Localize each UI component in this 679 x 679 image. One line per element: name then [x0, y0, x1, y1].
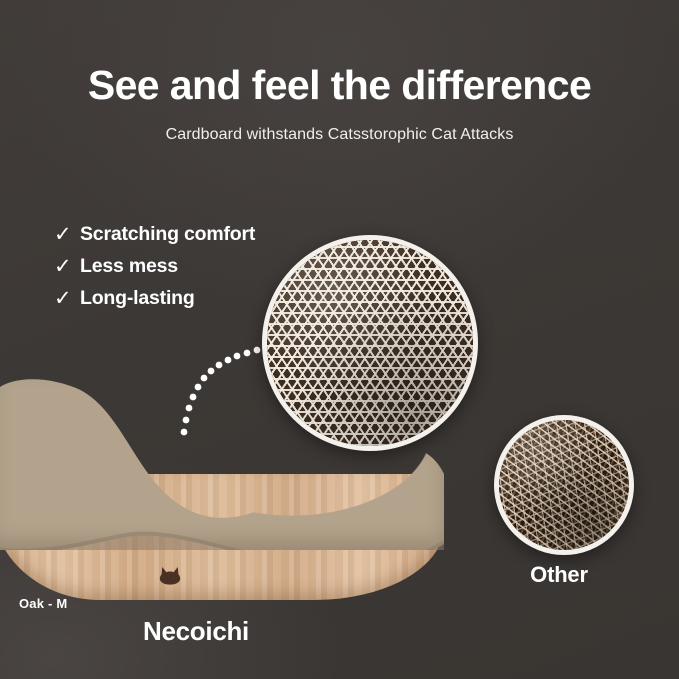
benefit-label: Less mess	[80, 255, 178, 278]
benefit-label: Scratching comfort	[80, 223, 255, 246]
benefit-label: Long-lasting	[80, 287, 195, 310]
texture-shading	[267, 240, 473, 446]
texture-shading	[499, 420, 629, 550]
cat-head-icon	[159, 566, 181, 585]
check-icon: ✓	[54, 256, 80, 277]
variant-label: Oak - M	[19, 596, 67, 611]
necoichi-texture-magnifier	[262, 235, 478, 451]
check-icon: ✓	[54, 288, 80, 309]
page-subtitle: Cardboard withstands Catsstorophic Cat A…	[0, 126, 679, 144]
brand-caption: Necoichi	[96, 616, 296, 647]
check-icon: ✓	[54, 224, 80, 245]
other-caption: Other	[494, 562, 624, 588]
page-title: See and feel the difference	[0, 64, 679, 107]
other-texture-magnifier	[494, 415, 634, 555]
marketing-image: See and feel the difference Cardboard wi…	[0, 0, 679, 679]
